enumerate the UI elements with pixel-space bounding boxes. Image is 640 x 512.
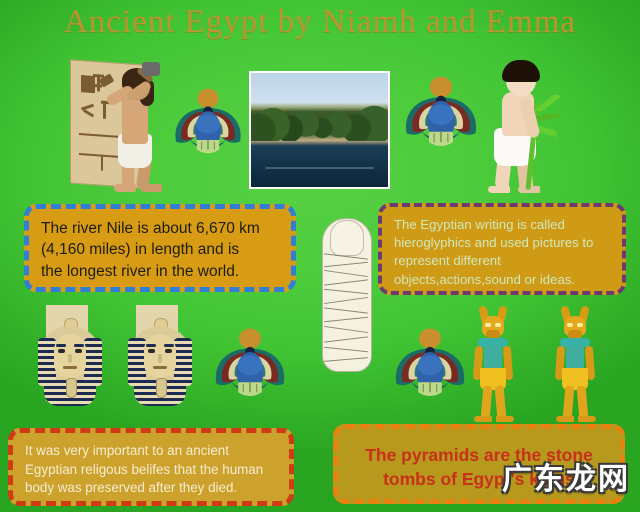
egypt-poster: Ancient Egypt by Niamh and Emma	[0, 0, 640, 512]
mask-nose	[158, 354, 162, 363]
mask-eye	[58, 349, 65, 353]
site-watermark: 广东龙网	[502, 454, 630, 498]
fact-line: The river Nile is about 6,670 km	[41, 218, 279, 239]
farmer-foot	[488, 186, 510, 193]
anubis-eye	[485, 323, 491, 327]
mask-mouth	[63, 366, 77, 369]
mask-eyebrow	[74, 344, 84, 347]
anubis-foot	[474, 416, 492, 422]
mask-false-beard	[156, 378, 167, 398]
scarab-icon	[398, 62, 484, 150]
tutankhamun-death-mask-1	[32, 308, 108, 408]
mask-eyebrow	[146, 344, 156, 347]
mummification-fact-card: It was very important to an ancient Egyp…	[8, 428, 294, 506]
mallet-icon	[142, 62, 160, 76]
palm-trees	[251, 105, 388, 141]
farmer-hair	[502, 60, 540, 82]
anubis-foot	[496, 416, 514, 422]
anubis-eye	[567, 323, 573, 327]
fact-line: (4,160 miles) in length and is	[41, 239, 279, 260]
scarab-icon	[168, 74, 248, 158]
winged-scarab-amulet-3	[208, 314, 292, 400]
fact-line: represent different	[394, 252, 610, 270]
nemes-lappet-right	[174, 338, 192, 386]
mask-nose	[68, 354, 72, 363]
fact-line: Egyptian religous belifes that the human	[25, 461, 277, 480]
anubis-eye	[495, 323, 501, 327]
fact-line: The Egyptian writing is called	[394, 216, 610, 234]
fact-line: body was preserved after they died.	[25, 479, 277, 498]
anubis-figure-1	[470, 312, 518, 424]
anubis-eye	[577, 323, 583, 327]
mask-eyebrow	[164, 344, 174, 347]
mummy-head	[330, 220, 364, 256]
nile-river-photograph	[249, 71, 390, 189]
fact-line: hieroglyphics and used pictures to	[394, 234, 610, 252]
scarab-icon	[388, 314, 472, 400]
egyptian-farmer-illustration	[484, 58, 570, 194]
scribe-foot-back	[140, 184, 162, 192]
anubis-foot	[556, 416, 574, 422]
fact-line: objects,actions,sound or ideas.	[394, 271, 610, 289]
fact-line: the longest river in the world.	[41, 261, 279, 282]
scribe-foot	[114, 184, 136, 192]
tutankhamun-death-mask-2	[122, 308, 198, 408]
nemes-lappet-right	[84, 338, 102, 386]
anubis-foot	[578, 416, 596, 422]
fact-line: It was very important to an ancient	[25, 442, 277, 461]
anubis-figure-2	[552, 312, 600, 424]
page-title: Ancient Egypt by Niamh and Emma	[0, 4, 640, 41]
water-reflection	[265, 167, 375, 169]
mask-false-beard	[66, 378, 77, 398]
winged-scarab-amulet-2	[398, 62, 484, 150]
mask-eye	[165, 349, 172, 353]
scarab-icon	[208, 314, 292, 400]
mask-mouth	[153, 366, 167, 369]
winged-scarab-amulet-4	[388, 314, 472, 400]
hieroglyphics-fact-card: The Egyptian writing is called hieroglyp…	[378, 203, 626, 295]
wrapped-mummy-illustration	[322, 218, 370, 370]
river-nile-fact-card: The river Nile is about 6,670 km (4,160 …	[24, 204, 296, 292]
mask-eye	[75, 349, 82, 353]
winged-scarab-amulet-1	[168, 74, 248, 158]
mask-eye	[148, 349, 155, 353]
mask-eyebrow	[56, 344, 66, 347]
